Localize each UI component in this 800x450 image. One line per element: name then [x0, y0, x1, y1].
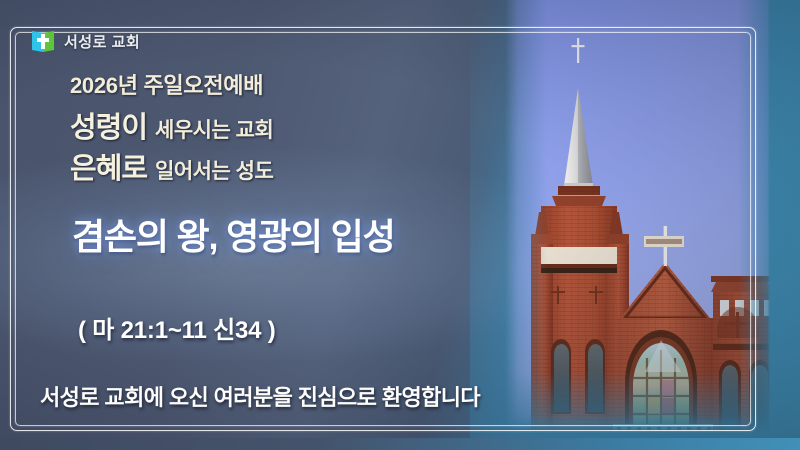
sermon-title: 겸손의 왕, 영광의 입성: [72, 208, 395, 260]
slogan-1-rest: 세우시는 교회: [155, 114, 273, 144]
bottom-strip: [0, 438, 800, 450]
welcome-message: 서성로 교회에 오신 여러분을 진심으로 환영합니다: [40, 380, 480, 412]
church-logo: 서성로 교회: [30, 28, 140, 54]
slogan-2-strong: 은혜로: [70, 145, 147, 187]
slogan-line-2: 은혜로 일어서는 성도: [70, 145, 273, 187]
scripture-reference: ( 마 21:1~11 신34 ): [78, 310, 276, 345]
slogan-2-rest: 일어서는 성도: [155, 155, 273, 185]
church-name-label: 서성로 교회: [64, 31, 140, 52]
worship-slide: 서성로 교회 2026년 주일오전예배 성령이 세우시는 교회 은혜로 일어서는…: [0, 0, 800, 450]
cross-flag-icon: [30, 28, 56, 54]
slogan-1-strong: 성령이: [70, 104, 147, 146]
service-year-line: 2026년 주일오전예배: [70, 68, 263, 100]
slogan-line-1: 성령이 세우시는 교회: [70, 104, 273, 146]
